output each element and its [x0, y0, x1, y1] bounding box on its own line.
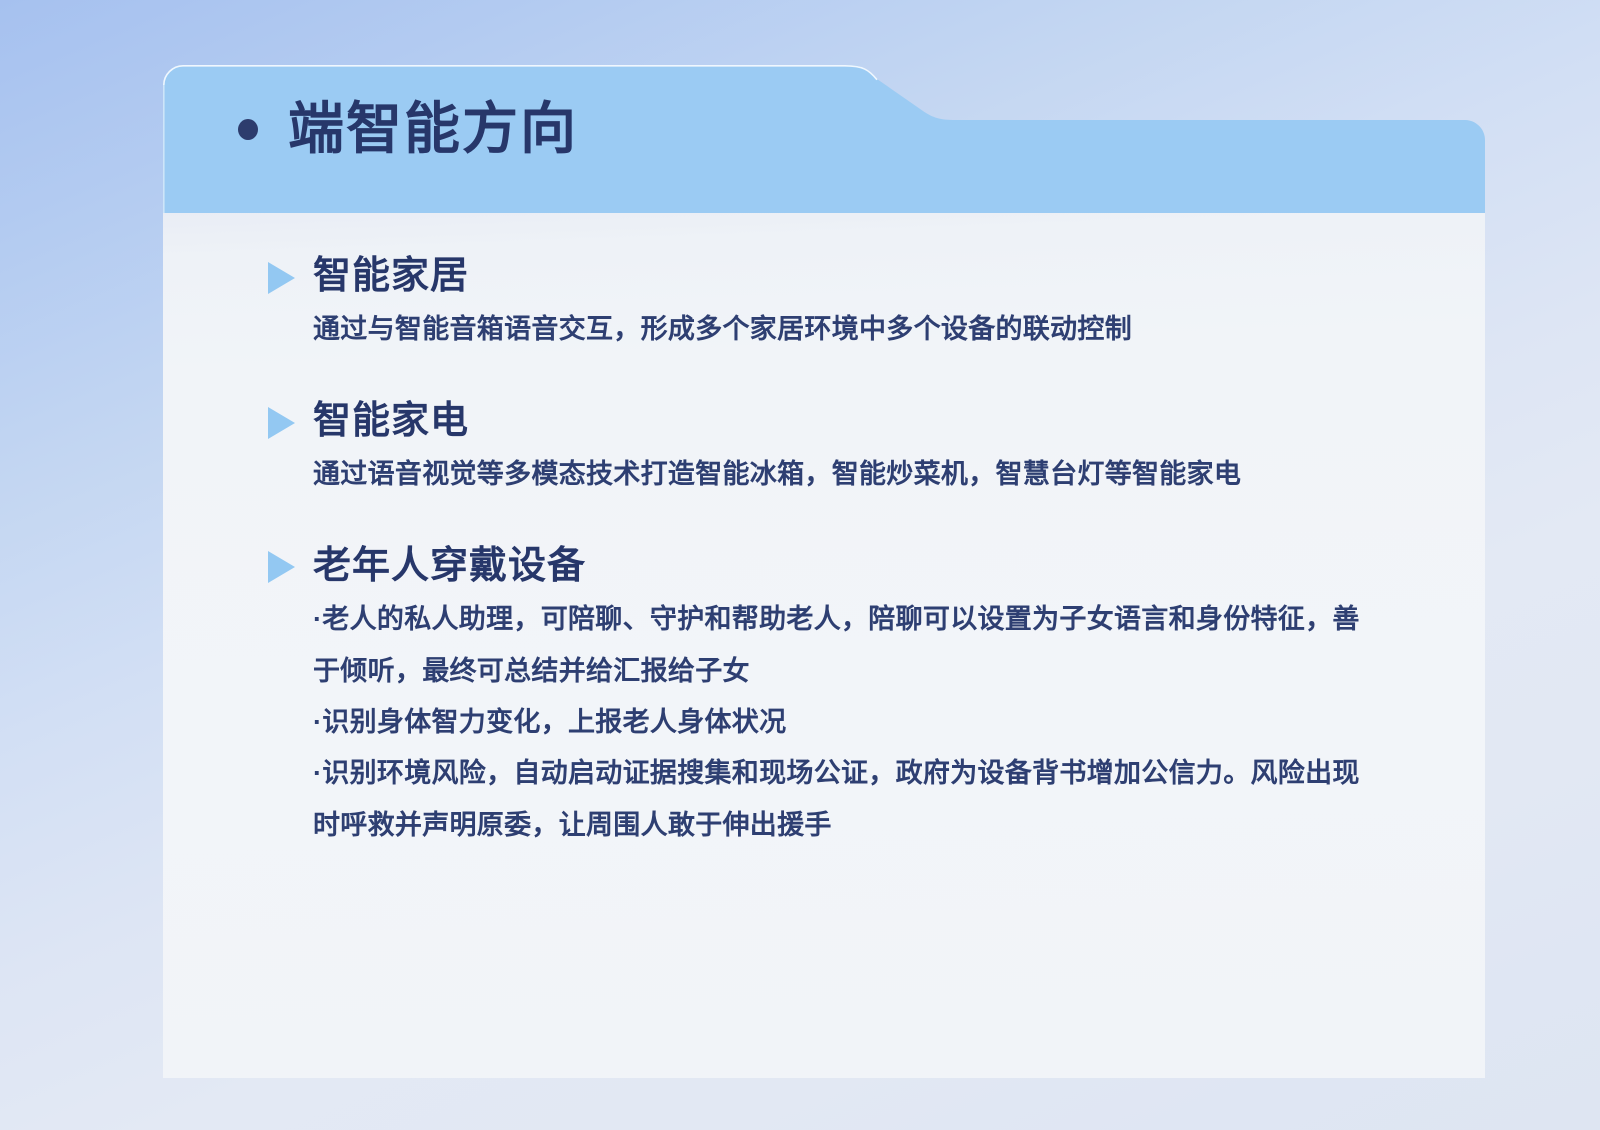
section-title: 智能家电: [313, 400, 469, 444]
folder-card: 端智能方向 智能家居 通过与智能音箱语音交互，形成多个家居环境中多个设备的联动控…: [163, 65, 1485, 1078]
slide-canvas: 端智能方向 智能家居 通过与智能音箱语音交互，形成多个家居环境中多个设备的联动控…: [0, 0, 1600, 1130]
section-title: 智能家居: [313, 255, 469, 299]
section-title: 老年人穿戴设备: [313, 545, 586, 589]
triangle-right-icon: [268, 551, 295, 583]
section-body-line: ·识别环境风险，自动启动证据搜集和现场公证，政府为设备背书增加公信力。风险出现时…: [313, 748, 1378, 851]
section-body-line: 通过与智能音箱语音交互，形成多个家居环境中多个设备的联动控制: [313, 305, 1378, 354]
triangle-right-icon: [268, 262, 295, 294]
section-body-line: 通过语音视觉等多模态技术打造智能冰箱，智能炒菜机，智慧台灯等智能家电: [313, 450, 1378, 499]
section-elderly-wearable: 老年人穿戴设备 ·老人的私人助理，可陪聊、守护和帮助老人，陪聊可以设置为子女语言…: [268, 545, 1378, 851]
section-body-line: ·老人的私人助理，可陪聊、守护和帮助老人，陪聊可以设置为子女语言和身份特征，善于…: [313, 594, 1378, 697]
section-body-line: ·识别身体智力变化，上报老人身体状况: [313, 697, 1378, 748]
section-heading-row: 老年人穿戴设备: [268, 545, 1378, 589]
filled-circle-bullet-icon: [238, 119, 258, 140]
section-body: ·老人的私人助理，可陪聊、守护和帮助老人，陪聊可以设置为子女语言和身份特征，善于…: [313, 594, 1378, 850]
section-body: 通过与智能音箱语音交互，形成多个家居环境中多个设备的联动控制: [313, 305, 1378, 354]
section-list: 智能家居 通过与智能音箱语音交互，形成多个家居环境中多个设备的联动控制 智能家电…: [268, 255, 1378, 851]
slide-title-row: 端智能方向: [238, 101, 578, 157]
section-smart-home: 智能家居 通过与智能音箱语音交互，形成多个家居环境中多个设备的联动控制: [268, 255, 1378, 354]
triangle-right-icon: [268, 407, 295, 439]
section-heading-row: 智能家电: [268, 400, 1378, 444]
page-title: 端智能方向: [288, 101, 578, 157]
section-smart-appliance: 智能家电 通过语音视觉等多模态技术打造智能冰箱，智能炒菜机，智慧台灯等智能家电: [268, 400, 1378, 499]
section-body: 通过语音视觉等多模态技术打造智能冰箱，智能炒菜机，智慧台灯等智能家电: [313, 450, 1378, 499]
section-heading-row: 智能家居: [268, 255, 1378, 299]
